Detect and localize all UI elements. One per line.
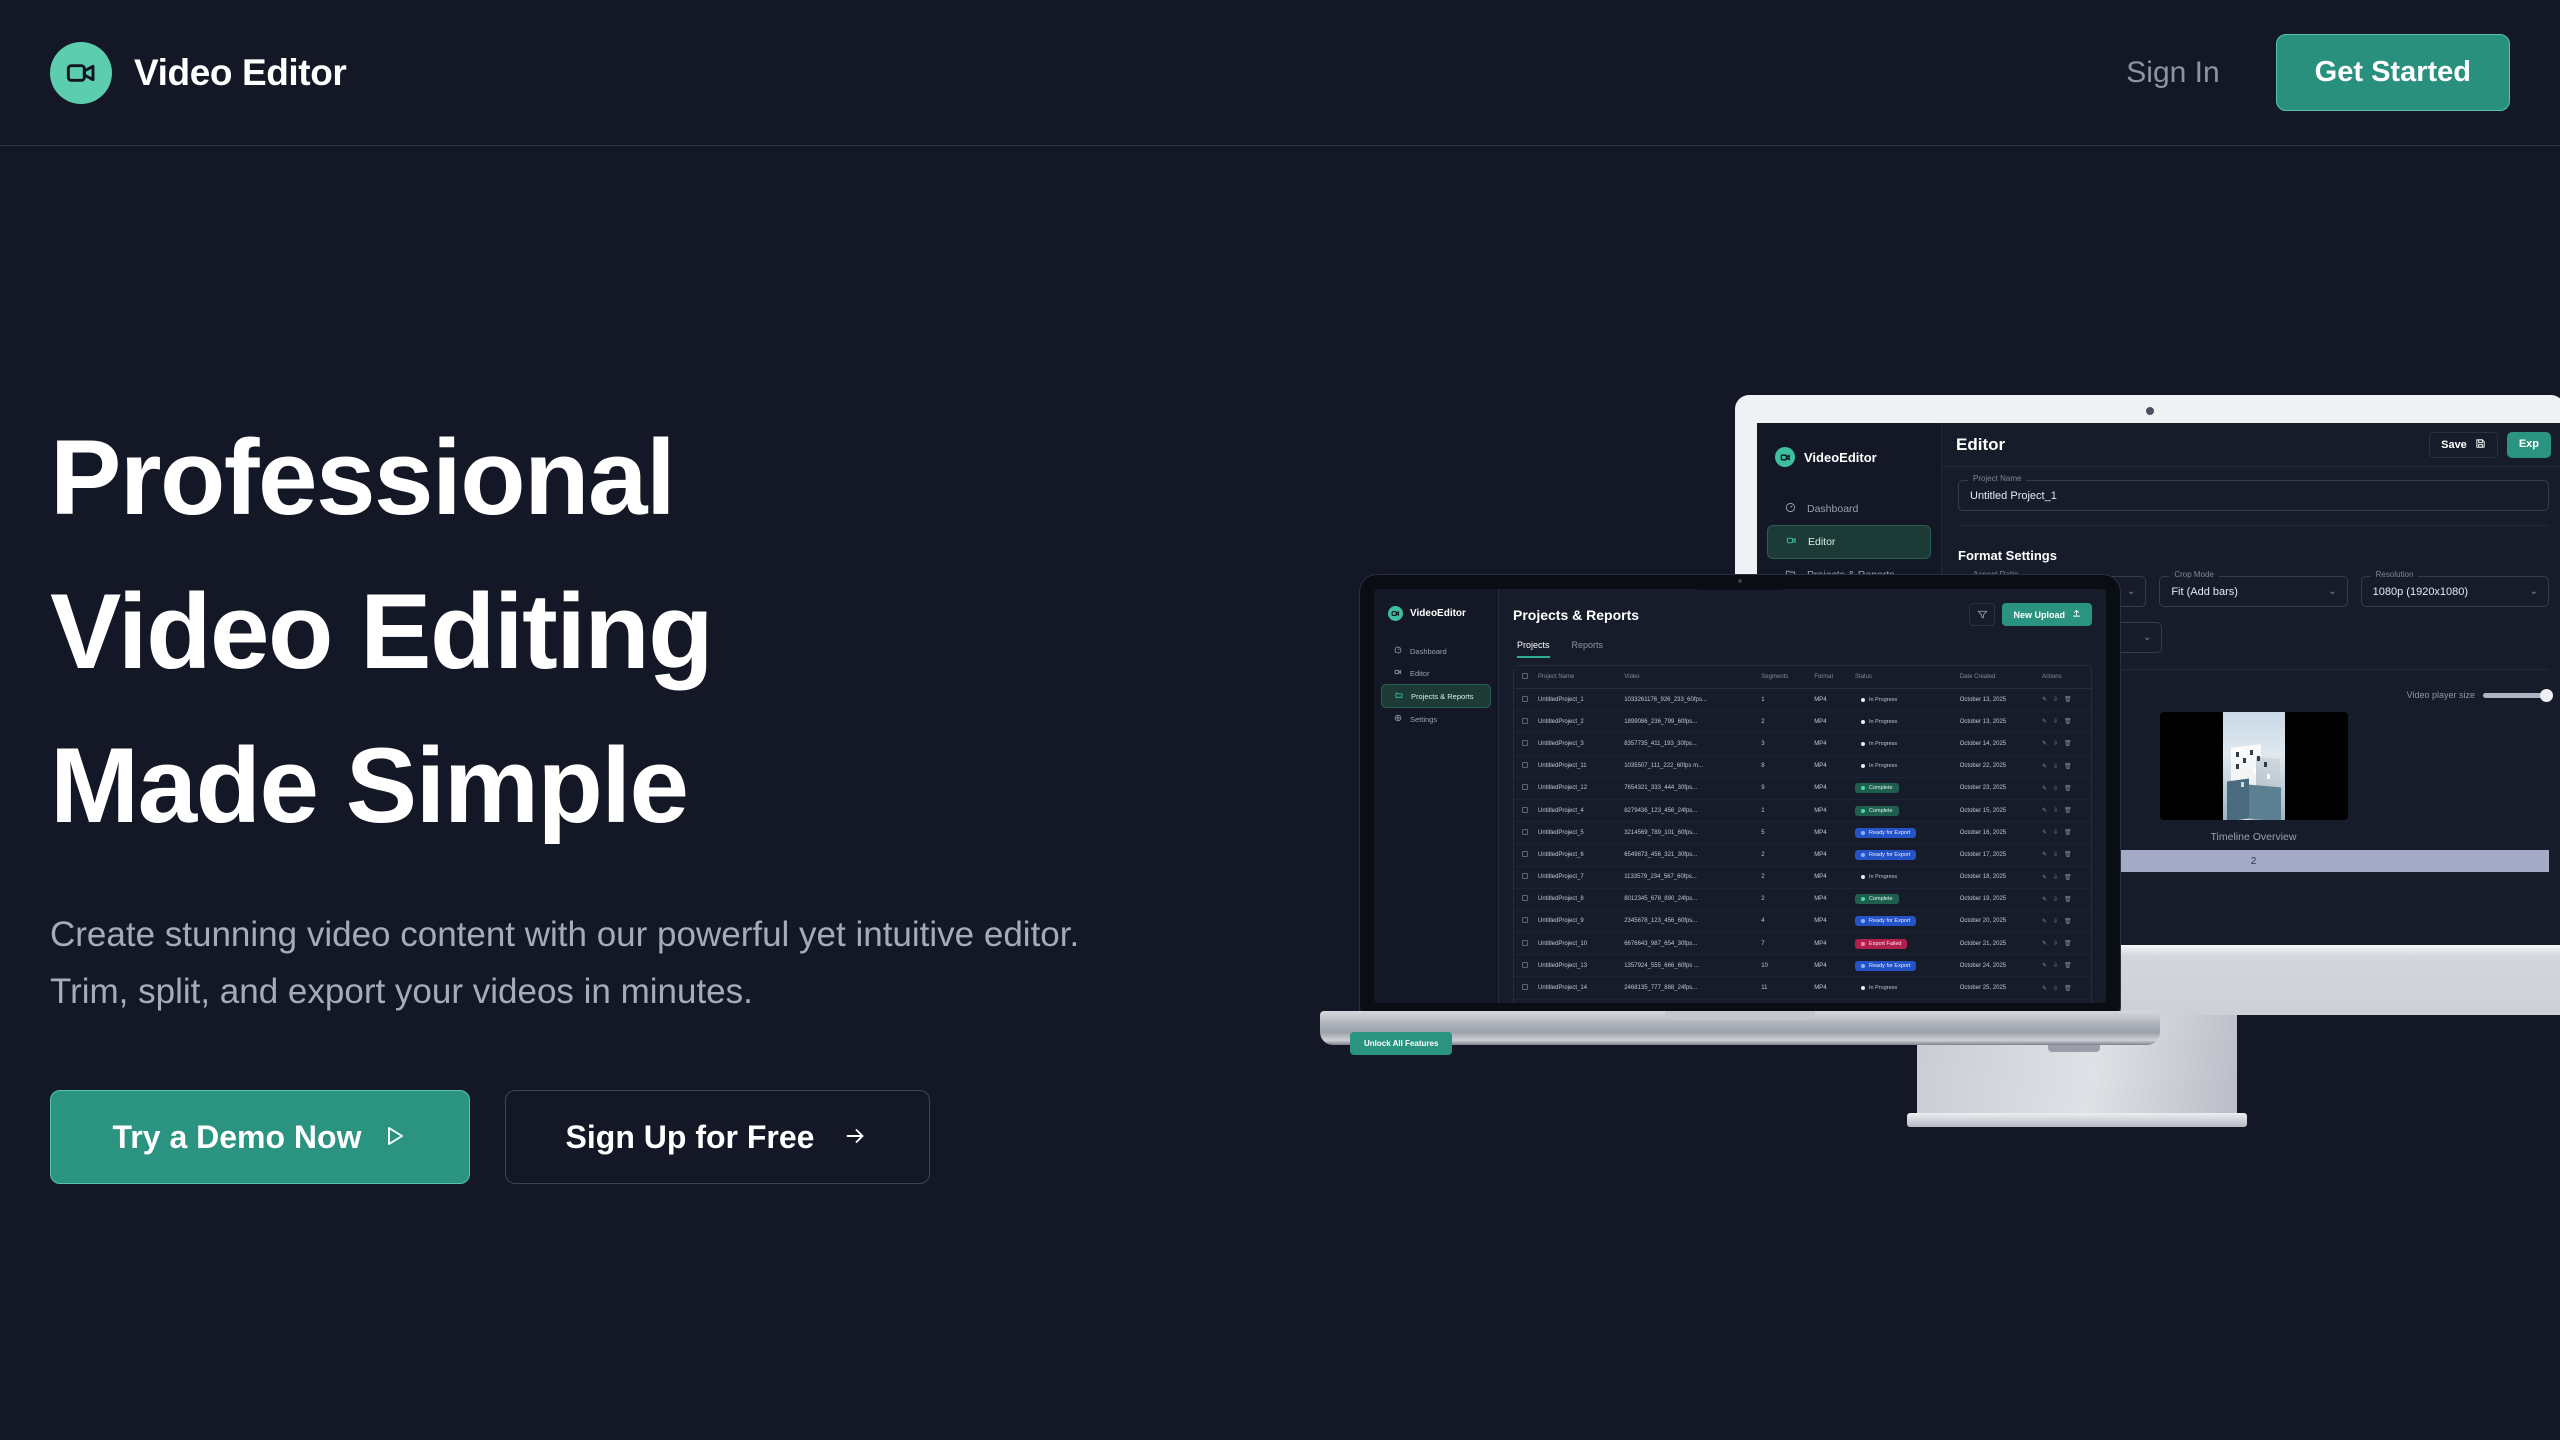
edit-icon[interactable]: ✎ [2042, 985, 2047, 992]
projects-table: Project Name Video Segments Format Statu… [1513, 665, 2092, 1003]
sidebar-label: Editor [1410, 669, 1430, 678]
download-icon[interactable]: ⇩ [2053, 940, 2058, 947]
monitor-topbar-actions: Save Exp [2429, 432, 2551, 458]
cell-status: In Progress [1847, 866, 1952, 888]
status-label: In Progress [1869, 741, 1897, 747]
cell-actions: ✎⇩🗑 [2034, 777, 2091, 799]
cell-actions: ✎⇩🗑 [2034, 799, 2091, 821]
download-icon[interactable]: ⇩ [2053, 851, 2058, 858]
col-date-created[interactable]: Date Created [1952, 666, 2034, 689]
cell-status: Ready for Export [1847, 910, 1952, 932]
cell-date-created: October 17, 2025 [1952, 844, 2034, 866]
cell-video: 6676643_987_654_30fps... [1616, 933, 1753, 955]
laptop-header-actions: New Upload [1969, 603, 2092, 626]
tab-projects[interactable]: Projects [1517, 640, 1550, 658]
status-badge: In Progress [1855, 983, 1903, 993]
cell-status: In Progress [1847, 689, 1952, 711]
laptop-brand-label: VideoEditor [1410, 608, 1466, 619]
try-demo-label: Try a Demo Now [113, 1119, 362, 1156]
status-dot-icon [1861, 742, 1865, 746]
cell-project-name: UntitledProject_14 [1530, 977, 1616, 999]
cell-video: 1035507_111_222_60fps m... [1616, 755, 1753, 777]
cell-format: MP4 [1806, 933, 1847, 955]
cell-date-created: October 16, 2025 [1952, 822, 2034, 844]
cell-video: 3214569_789_101_60fps... [1616, 822, 1753, 844]
row-checkbox[interactable] [1522, 718, 1528, 724]
chevron-down-icon: ⌄ [2143, 632, 2151, 643]
save-button[interactable]: Save [2429, 432, 2498, 458]
laptop-sidebar: VideoEditor Dashboard Editor [1374, 589, 1499, 1003]
get-started-button[interactable]: Get Started [2276, 34, 2510, 111]
status-label: In Progress [1869, 874, 1897, 880]
row-checkbox[interactable] [1522, 940, 1528, 946]
save-label: Save [2441, 439, 2467, 451]
cell-date-created: October 13, 2025 [1952, 689, 2034, 711]
project-name-value: Untitled Project_1 [1970, 490, 2057, 502]
cell-format: MP4 [1806, 799, 1847, 821]
cell-project-name: UntitledProject_9 [1530, 910, 1616, 932]
chevron-down-icon: ⌄ [2328, 586, 2336, 597]
cell-actions: ✎⇩🗑 [2034, 955, 2091, 977]
edit-icon[interactable]: ✎ [2042, 940, 2047, 947]
table-row[interactable]: UntitledProject_53214569_789_101_60fps..… [1514, 822, 2091, 844]
monitor-brand: VideoEditor [1757, 423, 1941, 467]
status-badge: Ready for Export [1855, 916, 1916, 926]
row-checkbox[interactable] [1522, 807, 1528, 813]
cell-format: MP4 [1806, 689, 1847, 711]
status-label: Export Failed [1869, 941, 1901, 947]
sidebar-item-settings[interactable]: Settings [1381, 708, 1491, 730]
col-segments[interactable]: Segments [1753, 666, 1806, 689]
edit-icon[interactable]: ✎ [2042, 740, 2047, 747]
row-checkbox[interactable] [1522, 984, 1528, 990]
cell-video: 7654321_333_444_30fps... [1616, 777, 1753, 799]
laptop-page-title: Projects & Reports [1513, 607, 1639, 623]
status-label: Complete [1869, 896, 1893, 902]
cell-actions: ✎⇩🗑 [2034, 888, 2091, 910]
delete-icon[interactable]: 🗑 [2064, 940, 2072, 947]
download-icon[interactable]: ⇩ [2053, 896, 2058, 903]
status-label: In Progress [1869, 697, 1897, 703]
cell-project-name: UntitledProject_4 [1530, 799, 1616, 821]
cell-project-name: UntitledProject_7 [1530, 866, 1616, 888]
gauge-icon [1394, 646, 1402, 656]
cell-format: MP4 [1806, 866, 1847, 888]
sidebar-item-editor[interactable]: Editor [1767, 525, 1931, 559]
edit-icon[interactable]: ✎ [2042, 962, 2047, 969]
status-dot-icon [1861, 764, 1865, 768]
table-row[interactable]: UntitledProject_66549873_456_321_30fps..… [1514, 844, 2091, 866]
table-header-row: Project Name Video Segments Format Statu… [1514, 666, 2091, 689]
table-row[interactable]: UntitledProject_71133579_234_567_60fps..… [1514, 866, 2091, 888]
cell-format: MP4 [1806, 888, 1847, 910]
cell-video: 8012345_678_890_24fps... [1616, 888, 1753, 910]
cell-format: MP4 [1806, 999, 1847, 1003]
monitor-topbar: Editor Save Exp [1942, 423, 2560, 467]
status-dot-icon [1861, 964, 1865, 968]
laptop-foot [2048, 1045, 2100, 1052]
arrow-right-icon [842, 1119, 869, 1156]
crop-mode-select[interactable]: Crop Mode Fit (Add bars) ⌄ [2159, 576, 2347, 607]
download-icon[interactable]: ⇩ [2053, 807, 2058, 814]
page-title: Professional Video Editing Made Simple [50, 400, 712, 862]
status-dot-icon [1861, 919, 1865, 923]
status-dot-icon [1861, 897, 1865, 901]
try-demo-button[interactable]: Try a Demo Now [50, 1090, 470, 1184]
export-button[interactable]: Exp [2507, 432, 2551, 458]
laptop-screen: VideoEditor Dashboard Editor [1374, 589, 2106, 1003]
col-video[interactable]: Video [1616, 666, 1753, 689]
table-row[interactable]: UntitledProject_38357735_411_193_30fps..… [1514, 733, 2091, 755]
video-icon [1786, 535, 1797, 549]
cell-segments: 2 [1753, 866, 1806, 888]
sidebar-item-projects-reports[interactable]: Projects & Reports [1381, 684, 1491, 708]
cell-segments: 4 [1753, 910, 1806, 932]
delete-icon[interactable]: 🗑 [2064, 896, 2072, 903]
status-label: Ready for Export [1869, 918, 1910, 924]
edit-icon[interactable]: ✎ [2042, 918, 2047, 925]
status-badge: Ready for Export [1855, 850, 1916, 860]
laptop-page-header: Projects & Reports New Upload [1513, 603, 2092, 626]
cell-status: Ready for Export [1847, 955, 1952, 977]
row-checkbox[interactable] [1522, 895, 1528, 901]
monitor-page-title: Editor [1956, 435, 2005, 455]
status-dot-icon [1861, 831, 1865, 835]
delete-icon[interactable]: 🗑 [2064, 696, 2072, 703]
cell-date-created: October 20, 2025 [1952, 910, 2034, 932]
cell-project-name: UntitledProject_6 [1530, 844, 1616, 866]
resolution-select[interactable]: Resolution 1080p (1920x1080) ⌄ [2361, 576, 2549, 607]
cell-project-name: UntitledProject_12 [1530, 777, 1616, 799]
cta-row: Try a Demo Now Sign Up for Free [50, 1090, 930, 1184]
col-format[interactable]: Format [1806, 666, 1847, 689]
resolution-label: Resolution [2371, 570, 2419, 579]
row-checkbox[interactable] [1522, 829, 1528, 835]
download-icon[interactable]: ⇩ [2053, 740, 2058, 747]
status-badge: Ready for Export [1855, 828, 1916, 838]
download-icon[interactable]: ⇩ [2053, 985, 2058, 992]
monitor-stand-foot [1907, 1113, 2247, 1127]
cell-segments: 2 [1753, 844, 1806, 866]
table-row[interactable]: UntitledProject_131357924_555_666_60fps … [1514, 955, 2091, 977]
cell-status: Complete [1847, 999, 1952, 1003]
col-project-name[interactable]: Project Name [1530, 666, 1616, 689]
laptop-trackpad-notch [1665, 1011, 1815, 1020]
crop-mode-label: Crop Mode [2169, 570, 2219, 579]
slider-knob[interactable] [2540, 689, 2553, 702]
cell-actions: ✎⇩🗑 [2034, 711, 2091, 733]
delete-icon[interactable]: 🗑 [2064, 807, 2072, 814]
status-label: Ready for Export [1869, 852, 1910, 858]
table-row[interactable]: UntitledProject_92345678_123_456_60fps..… [1514, 910, 2091, 932]
row-checkbox[interactable] [1522, 962, 1528, 968]
cell-format: MP4 [1806, 711, 1847, 733]
video-icon [1394, 668, 1402, 678]
delete-icon[interactable]: 🗑 [2064, 985, 2072, 992]
row-checkbox[interactable] [1522, 762, 1528, 768]
cell-date-created: October 18, 2025 [1952, 866, 2034, 888]
cell-segments: 3 [1753, 733, 1806, 755]
cell-video: 9871234_999_000_60fps... [1616, 999, 1753, 1003]
sidebar-label: Dashboard [1410, 647, 1447, 656]
cell-segments: 7 [1753, 933, 1806, 955]
format-settings-title: Format Settings [1958, 548, 2549, 563]
header-actions: Sign In Get Started [2126, 34, 2510, 111]
cell-format: MP4 [1806, 910, 1847, 932]
cell-project-name: UntitledProject_2 [1530, 711, 1616, 733]
sidebar-label: Editor [1808, 536, 1835, 548]
row-checkbox[interactable] [1522, 696, 1528, 702]
cell-status: In Progress [1847, 711, 1952, 733]
cell-segments: 9 [1753, 777, 1806, 799]
cell-video: 2468135_777_888_24fps... [1616, 977, 1753, 999]
unlock-all-features-button[interactable]: Unlock All Features [1350, 1032, 1452, 1055]
sign-up-label: Sign Up for Free [566, 1119, 815, 1156]
gauge-icon [1785, 502, 1796, 516]
download-icon[interactable]: ⇩ [2053, 874, 2058, 881]
cell-project-name: UntitledProject_1 [1530, 689, 1616, 711]
status-dot-icon [1861, 986, 1865, 990]
status-dot-icon [1861, 786, 1865, 790]
cell-actions: ✎⇩🗑 [2034, 866, 2091, 888]
cell-project-name: UntitledProject_10 [1530, 933, 1616, 955]
row-checkbox[interactable] [1522, 740, 1528, 746]
cell-status: Complete [1847, 888, 1952, 910]
edit-icon[interactable]: ✎ [2042, 874, 2047, 881]
cell-segments: 2 [1753, 888, 1806, 910]
edit-icon[interactable]: ✎ [2042, 851, 2047, 858]
table-row[interactable]: UntitledProject_88012345_678_890_24fps..… [1514, 888, 2091, 910]
laptop-nav: Dashboard Editor Projects & Reports [1374, 640, 1498, 730]
cell-project-name: UntitledProject_11 [1530, 755, 1616, 777]
col-actions: Actions [2034, 666, 2091, 689]
download-icon[interactable]: ⇩ [2053, 962, 2058, 969]
row-checkbox[interactable] [1522, 784, 1528, 790]
upload-icon [2072, 609, 2081, 620]
cell-date-created: October 15, 2025 [1952, 799, 2034, 821]
folder-icon [1395, 691, 1403, 701]
cell-segments: 1 [1753, 999, 1806, 1003]
cell-video: 2345678_123_456_60fps... [1616, 910, 1753, 932]
cell-format: MP4 [1806, 822, 1847, 844]
video-camera-icon [1388, 606, 1403, 621]
crop-mode-value: Fit (Add bars) [2171, 586, 2238, 598]
cell-segments: 8 [1753, 755, 1806, 777]
cell-date-created: October 13, 2025 [1952, 711, 2034, 733]
cell-status: In Progress [1847, 733, 1952, 755]
new-upload-button[interactable]: New Upload [2002, 603, 2092, 626]
cell-date-created: October 21, 2025 [1952, 933, 2034, 955]
status-label: In Progress [1869, 763, 1897, 769]
delete-icon[interactable]: 🗑 [2064, 851, 2072, 858]
status-dot-icon [1861, 853, 1865, 857]
edit-icon[interactable]: ✎ [2042, 785, 2047, 792]
status-badge: Ready for Export [1855, 961, 1916, 971]
download-icon[interactable]: ⇩ [2053, 696, 2058, 703]
cell-project-name: UntitledProject_3 [1530, 733, 1616, 755]
floppy-disk-icon [2475, 438, 2486, 452]
table-row[interactable]: UntitledProject_11033261176_926_233_60fp… [1514, 689, 2091, 711]
col-status[interactable]: Status [1847, 666, 1952, 689]
cell-actions: ✎⇩🗑 [2034, 933, 2091, 955]
cell-video: 8279436_123_456_24fps... [1616, 799, 1753, 821]
video-player-preview[interactable] [2160, 712, 2348, 820]
tab-reports[interactable]: Reports [1572, 640, 1604, 658]
row-checkbox[interactable] [1522, 917, 1528, 923]
status-label: Complete [1869, 808, 1893, 814]
cell-actions: ✎⇩🗑 [2034, 844, 2091, 866]
download-icon[interactable]: ⇩ [2053, 918, 2058, 925]
download-icon[interactable]: ⇩ [2053, 829, 2058, 836]
table-row[interactable]: UntitledProject_21899086_236_799_60fps..… [1514, 711, 2091, 733]
row-checkbox[interactable] [1522, 873, 1528, 879]
laptop-tabs: Projects Reports [1513, 640, 2092, 658]
player-size-slider[interactable] [2483, 693, 2549, 698]
cell-actions: ✎⇩🗑 [2034, 733, 2091, 755]
delete-icon[interactable]: 🗑 [2064, 918, 2072, 925]
cell-date-created: October 22, 2025 [1952, 755, 2034, 777]
cell-actions: ✎⇩🗑 [2034, 689, 2091, 711]
status-dot-icon [1861, 698, 1865, 702]
project-name-field[interactable]: Project Name Untitled Project_1 [1958, 480, 2549, 511]
delete-icon[interactable]: 🗑 [2064, 785, 2072, 792]
status-badge: Complete [1855, 806, 1899, 816]
sign-up-button[interactable]: Sign Up for Free [505, 1090, 930, 1184]
download-icon[interactable]: ⇩ [2053, 718, 2058, 725]
resolution-value: 1080p (1920x1080) [2373, 586, 2468, 598]
chevron-down-icon: ⌄ [2530, 586, 2538, 597]
delete-icon[interactable]: 🗑 [2064, 718, 2072, 725]
monitor-camera-icon [2146, 407, 2154, 415]
sidebar-item-dashboard[interactable]: Dashboard [1767, 493, 1931, 525]
cell-actions: ✎⇩🗑 [2034, 910, 2091, 932]
table-row[interactable]: UntitledProject_106676643_987_654_30fps.… [1514, 933, 2091, 955]
status-label: Complete [1869, 785, 1893, 791]
table-row[interactable]: UntitledProject_127654321_333_444_30fps.… [1514, 777, 2091, 799]
player-size-control[interactable]: Video player size [2407, 690, 2549, 700]
project-name-label: Project Name [1968, 474, 2026, 483]
row-checkbox[interactable] [1522, 851, 1528, 857]
status-badge: In Progress [1855, 872, 1903, 882]
edit-icon[interactable]: ✎ [2042, 763, 2047, 770]
cell-video: 1899086_236_799_60fps... [1616, 711, 1753, 733]
hero-subtitle: Create stunning video content with our p… [50, 906, 1140, 1020]
cell-format: MP4 [1806, 777, 1847, 799]
select-all-checkbox[interactable] [1522, 673, 1528, 679]
cell-status: In Progress [1847, 755, 1952, 777]
delete-icon[interactable]: 🗑 [2064, 740, 2072, 747]
cell-format: MP4 [1806, 955, 1847, 977]
player-size-label: Video player size [2407, 690, 2475, 700]
laptop-brand: VideoEditor [1374, 589, 1498, 621]
cell-project-name: UntitledProject_15 [1530, 999, 1616, 1003]
status-badge: In Progress [1855, 739, 1903, 749]
cell-status: Ready for Export [1847, 822, 1952, 844]
cell-video: 1357924_555_666_60fps ... [1616, 955, 1753, 977]
table-row[interactable]: UntitledProject_111035507_111_222_60fps … [1514, 755, 2091, 777]
cell-format: MP4 [1806, 733, 1847, 755]
status-badge: In Progress [1855, 695, 1903, 705]
cell-format: MP4 [1806, 977, 1847, 999]
cell-project-name: UntitledProject_8 [1530, 888, 1616, 910]
table-row[interactable]: UntitledProject_48279436_123_456_24fps..… [1514, 799, 2091, 821]
video-camera-icon [50, 42, 112, 104]
cell-date-created: October 14, 2025 [1952, 733, 2034, 755]
cell-actions: ✎⇩🗑 [2034, 977, 2091, 999]
cell-date-created: October 26, 2025 [1952, 999, 2034, 1003]
cell-video: 6549873_456_321_30fps... [1616, 844, 1753, 866]
cell-project-name: UntitledProject_13 [1530, 955, 1616, 977]
edit-icon[interactable]: ✎ [2042, 696, 2047, 703]
table-row[interactable]: UntitledProject_142468135_777_888_24fps.… [1514, 977, 2091, 999]
status-dot-icon [1861, 942, 1865, 946]
cell-actions: ✎⇩🗑 [2034, 755, 2091, 777]
laptop-main: Projects & Reports New Upload [1499, 589, 2106, 1003]
sidebar-item-editor[interactable]: Editor [1381, 662, 1491, 684]
status-label: In Progress [1869, 985, 1897, 991]
play-icon [383, 1119, 407, 1156]
cell-project-name: UntitledProject_5 [1530, 822, 1616, 844]
video-camera-icon [1775, 447, 1795, 467]
status-dot-icon [1861, 720, 1865, 724]
status-badge: In Progress [1855, 717, 1903, 727]
sign-in-link[interactable]: Sign In [2126, 56, 2219, 90]
cell-format: MP4 [1806, 844, 1847, 866]
table-row[interactable]: UntitledProject_159871234_999_000_60fps.… [1514, 999, 2091, 1003]
sidebar-item-dashboard[interactable]: Dashboard [1381, 640, 1491, 662]
cell-date-created: October 24, 2025 [1952, 955, 2034, 977]
sidebar-label: Projects & Reports [1411, 692, 1474, 701]
new-upload-label: New Upload [2013, 610, 2065, 620]
cell-segments: 11 [1753, 977, 1806, 999]
cell-status: Complete [1847, 777, 1952, 799]
download-icon[interactable]: ⇩ [2053, 785, 2058, 792]
brand[interactable]: Video Editor [50, 42, 346, 104]
monitor-brand-label: VideoEditor [1804, 450, 1877, 465]
download-icon[interactable]: ⇩ [2053, 763, 2058, 770]
edit-icon[interactable]: ✎ [2042, 807, 2047, 814]
status-dot-icon [1861, 809, 1865, 813]
cell-video: 1033261176_926_233_60fps... [1616, 689, 1753, 711]
divider [1958, 525, 2549, 526]
cell-status: Complete [1847, 799, 1952, 821]
status-badge: In Progress [1855, 761, 1903, 771]
brand-name: Video Editor [134, 52, 346, 94]
cell-date-created: October 25, 2025 [1952, 977, 2034, 999]
laptop-camera-icon [1738, 579, 1742, 583]
delete-icon[interactable]: 🗑 [2064, 874, 2072, 881]
cell-format: MP4 [1806, 755, 1847, 777]
filter-icon[interactable] [1969, 603, 1995, 626]
edit-icon[interactable]: ✎ [2042, 896, 2047, 903]
cell-status: Ready for Export [1847, 844, 1952, 866]
status-badge: Export Failed [1855, 939, 1907, 949]
delete-icon[interactable]: 🗑 [2064, 829, 2072, 836]
cell-video: 1133579_234_567_60fps... [1616, 866, 1753, 888]
cell-actions: ✎⇩🗑 [2034, 999, 2091, 1003]
edit-icon[interactable]: ✎ [2042, 718, 2047, 725]
product-mockups: VideoEditor Dashboard Editor Projects & … [1360, 395, 2560, 1245]
status-label: Ready for Export [1869, 963, 1910, 969]
cell-date-created: October 19, 2025 [1952, 888, 2034, 910]
cell-segments: 1 [1753, 689, 1806, 711]
cell-date-created: October 23, 2025 [1952, 777, 2034, 799]
delete-icon[interactable]: 🗑 [2064, 763, 2072, 770]
sidebar-label: Settings [1410, 715, 1437, 724]
cell-video: 8357735_411_193_30fps... [1616, 733, 1753, 755]
edit-icon[interactable]: ✎ [2042, 829, 2047, 836]
delete-icon[interactable]: 🗑 [2064, 962, 2072, 969]
